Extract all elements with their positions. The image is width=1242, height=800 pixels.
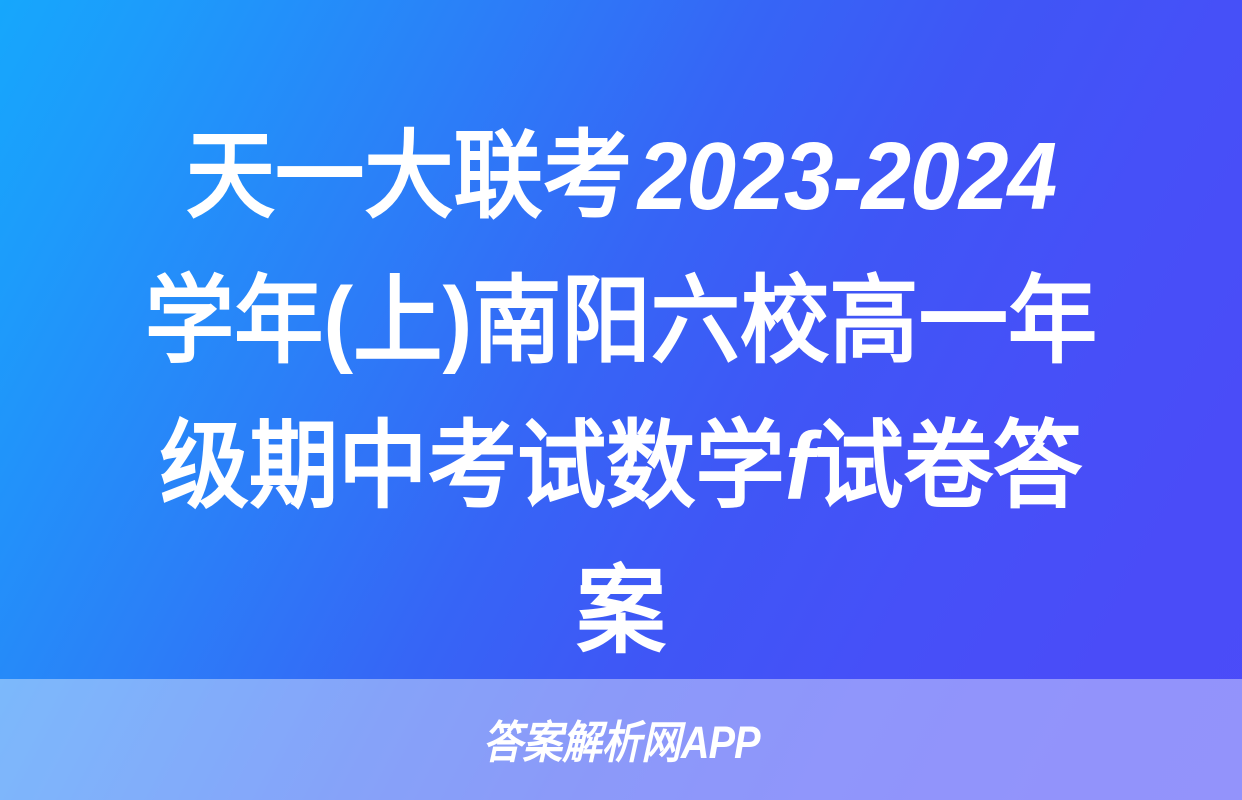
title-line-3: 级期中考试数学f试卷答 bbox=[84, 394, 1157, 539]
poster-canvas: 天一大联考2023-2024 学年(上)南阳六校高一年 级期中考试数学f试卷答 … bbox=[0, 0, 1242, 800]
app-watermark-cjk: 答案解析网 bbox=[483, 717, 681, 768]
title-line-3-f-variable: f bbox=[785, 413, 815, 520]
title-line-2: 学年(上)南阳六校高一年 bbox=[84, 249, 1157, 394]
title-line-3-cjk-tail: 试卷答 bbox=[814, 413, 1082, 520]
page-title: 天一大联考2023-2024 学年(上)南阳六校高一年 级期中考试数学f试卷答 … bbox=[0, 104, 1242, 684]
title-line-4: 案 bbox=[84, 539, 1157, 684]
title-line-1: 天一大联考2023-2024 bbox=[84, 104, 1157, 249]
app-watermark-latin: APP bbox=[681, 717, 760, 768]
title-line-1-cjk: 天一大联考 bbox=[186, 123, 632, 230]
title-line-3-cjk-lead: 级期中考试数学 bbox=[160, 413, 785, 520]
app-watermark-banner: 答案解析网APP bbox=[0, 679, 1242, 800]
app-watermark-label: 答案解析网APP bbox=[483, 720, 760, 765]
title-line-1-year-range: 2023-2024 bbox=[632, 123, 1056, 230]
